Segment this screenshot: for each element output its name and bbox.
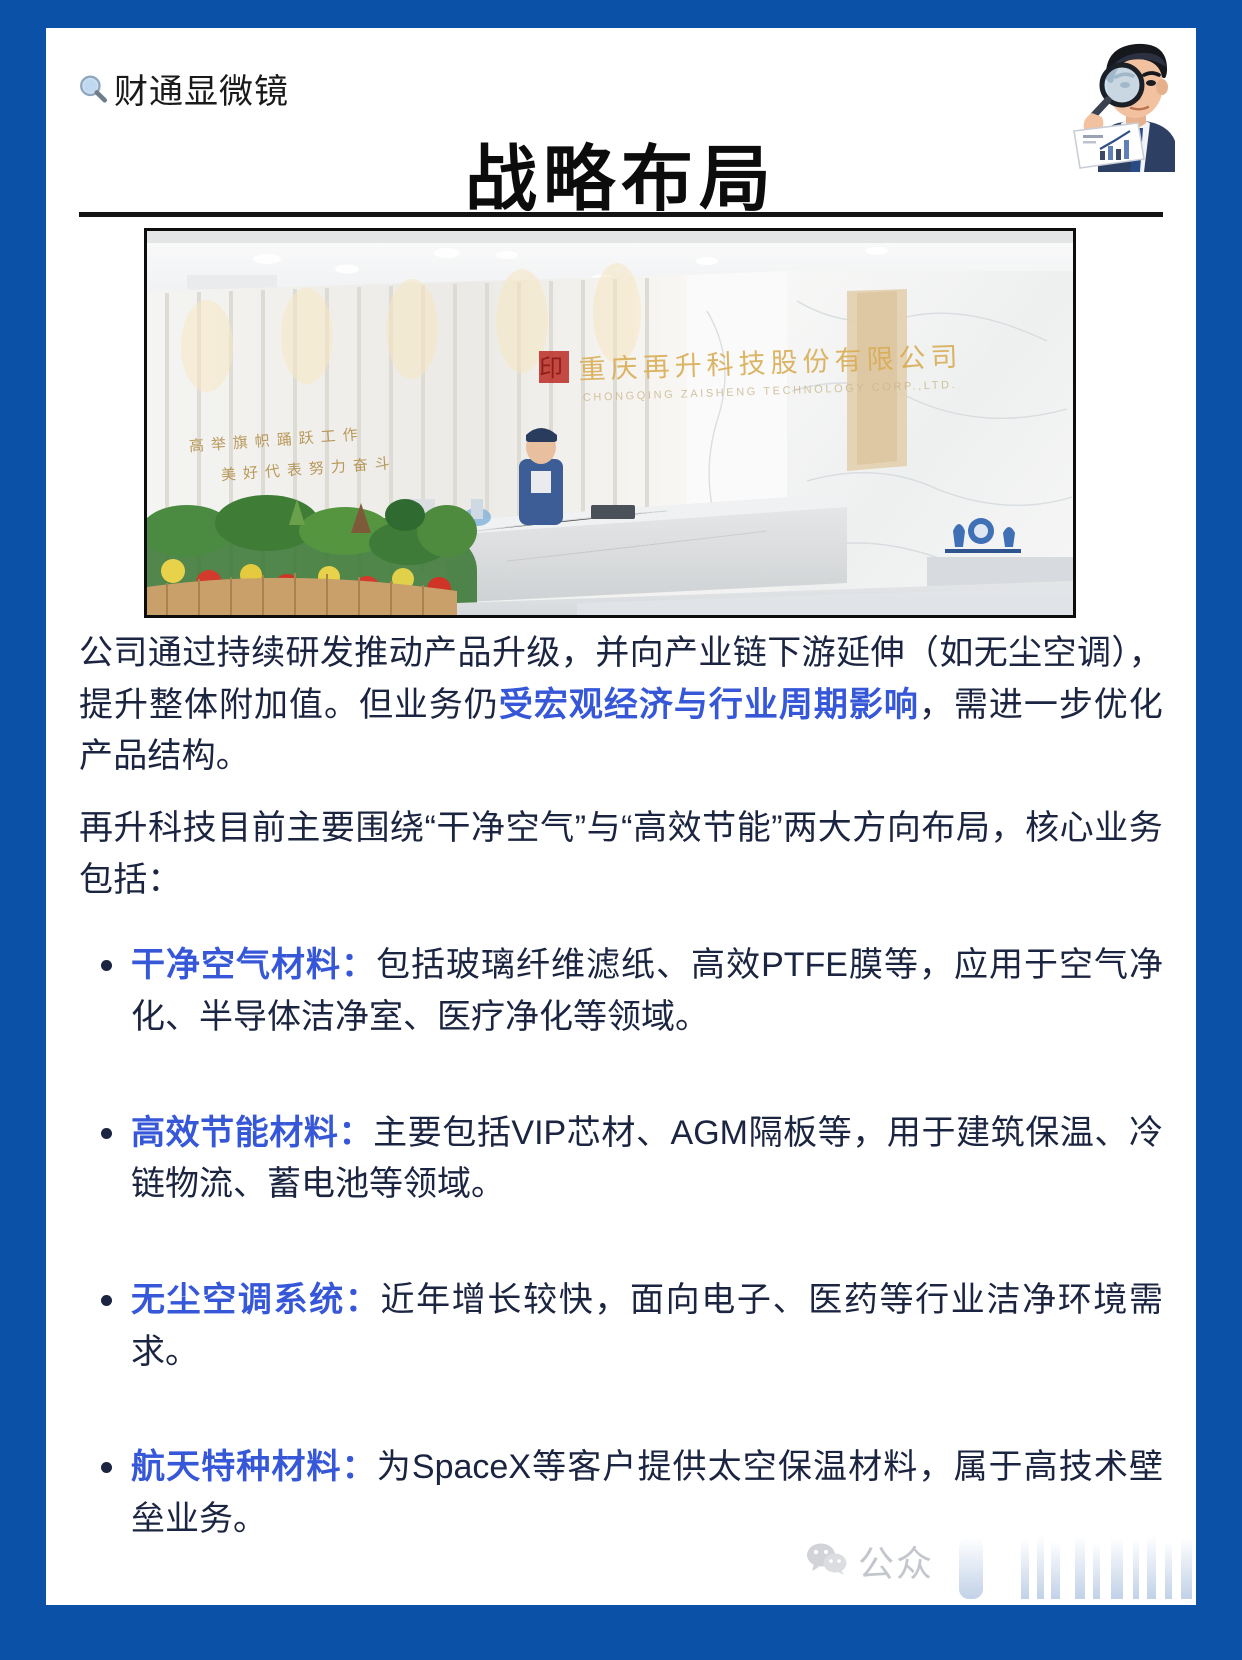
paragraph-1-highlight: 受宏观经济与行业周期影响 xyxy=(499,686,919,724)
list-item-term: 干净空气材料： xyxy=(131,946,376,984)
list-item-term: 高效节能材料： xyxy=(131,1114,373,1152)
article-card: 财通显微镜 战略布局 xyxy=(46,28,1196,1605)
paragraph-1: 公司通过持续研发推动产品升级，并向产业链下游延伸（如无尘空调），提升整体附加值。… xyxy=(79,628,1163,783)
lobby-photo: 高举旗帜踊跃工作 美好代表努力奋斗 印 重庆再升科技股份有限公司 xyxy=(144,228,1076,618)
svg-text:印: 印 xyxy=(539,354,563,382)
list-item-term: 航天特种材料： xyxy=(131,1448,377,1486)
article-body: 公司通过持续研发推动产品升级，并向产业链下游延伸（如无尘空调），提升整体附加值。… xyxy=(79,628,1163,1605)
magnifier-icon xyxy=(76,72,110,106)
list-item: 高效节能材料：主要包括VIP芯材、AGM隔板等，用于建筑保温、冷链物流、蓄电池等… xyxy=(79,1108,1163,1211)
watermark-fade-strokes xyxy=(951,1529,1196,1599)
page-title: 战略布局 xyxy=(46,120,1196,225)
avatar xyxy=(1026,28,1196,172)
brand[interactable]: 财通显微镜 xyxy=(76,64,289,113)
header-divider xyxy=(79,212,1163,217)
business-list: 干净空气材料：包括玻璃纤维滤纸、高效PTFE膜等，应用于空气净化、半导体洁净室、… xyxy=(79,940,1163,1545)
brand-label: 财通显微镜 xyxy=(114,64,289,113)
paragraph-2: 再升科技目前主要围绕“干净空气”与“高效节能”两大方向布局，核心业务包括： xyxy=(79,803,1163,906)
list-item-term: 无尘空调系统： xyxy=(131,1281,381,1319)
list-item: 干净空气材料：包括玻璃纤维滤纸、高效PTFE膜等，应用于空气净化、半导体洁净室、… xyxy=(79,940,1163,1043)
list-item: 无尘空调系统：近年增长较快，面向电子、医药等行业洁净环境需求。 xyxy=(79,1275,1163,1378)
header: 财通显微镜 战略布局 xyxy=(46,28,1196,193)
